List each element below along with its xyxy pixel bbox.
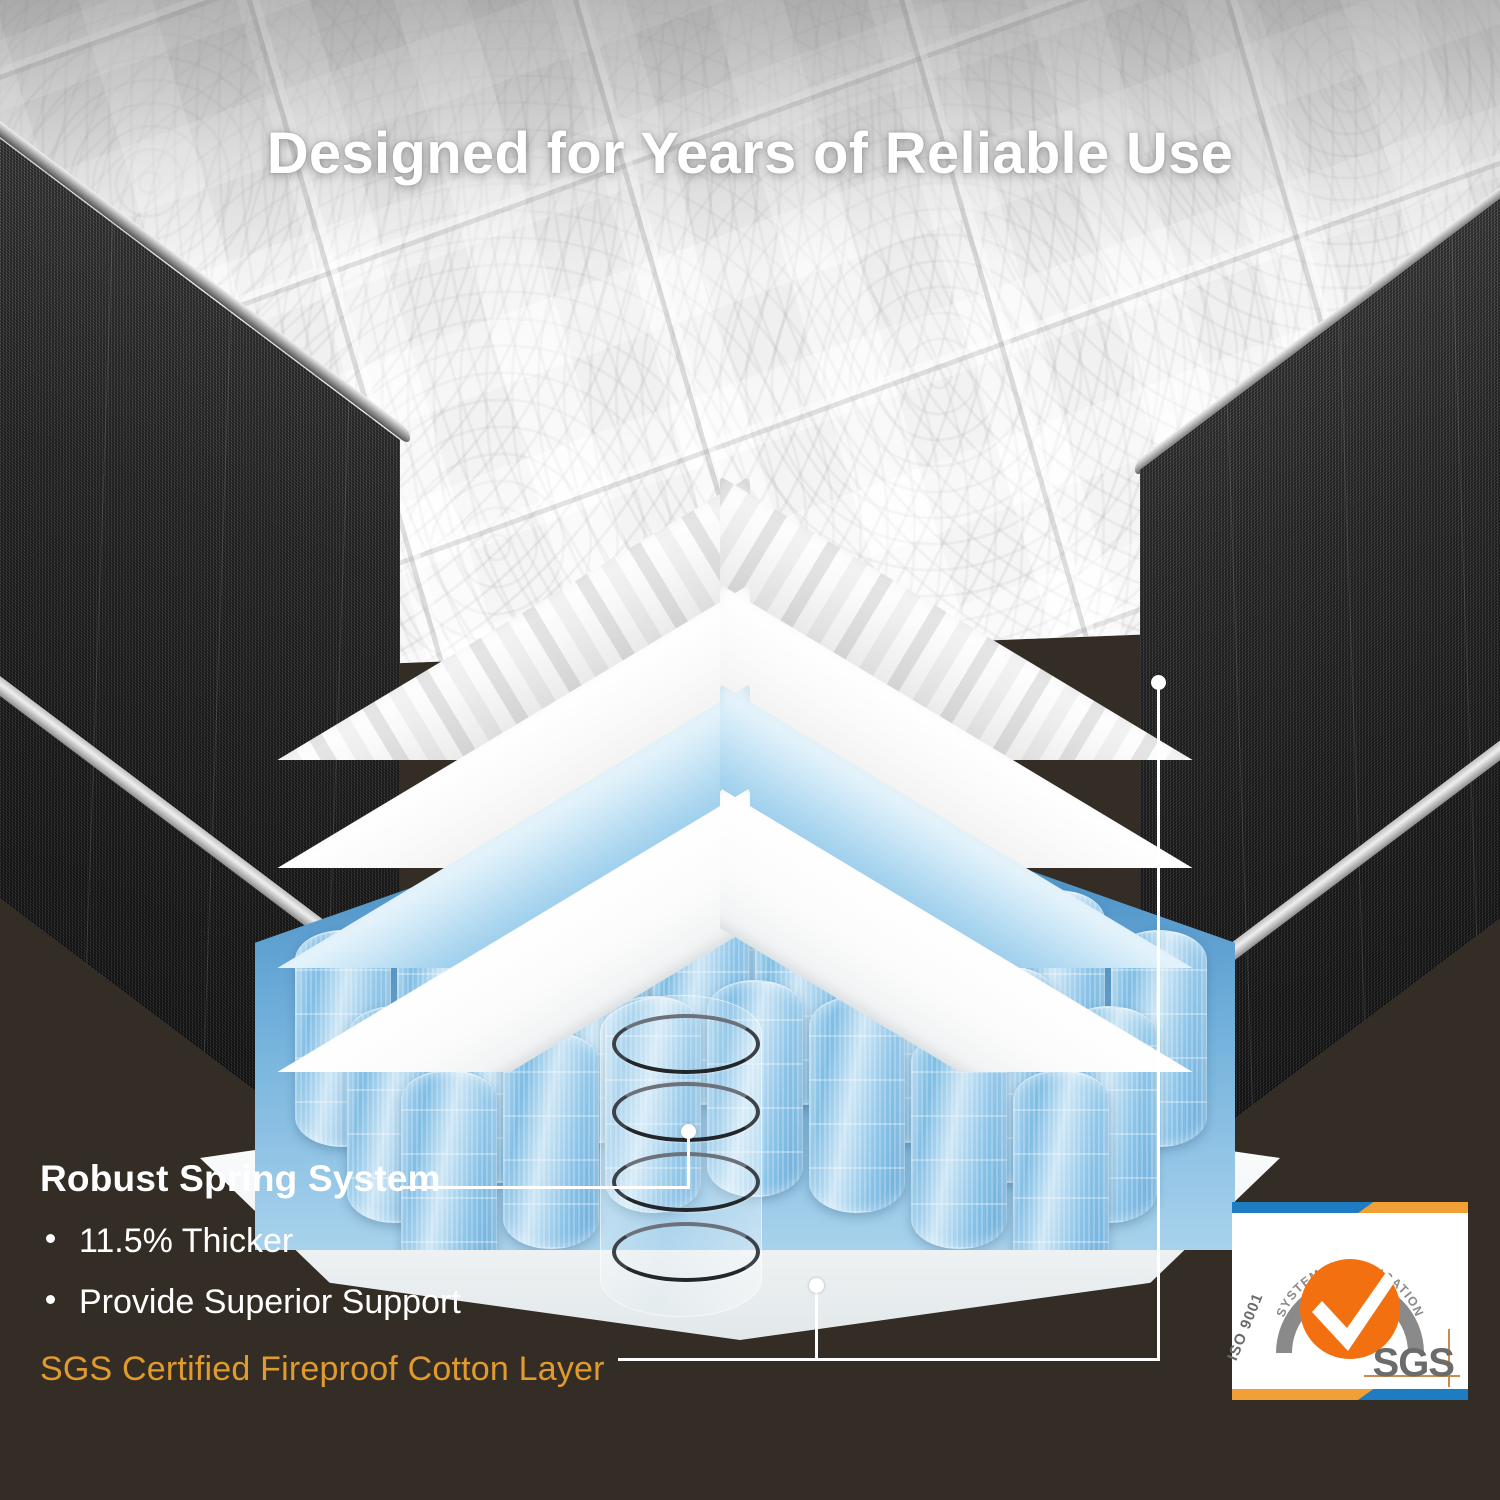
spring-system-title: Robust Spring System — [40, 1160, 760, 1197]
list-item: Provide Superior Support — [40, 1285, 760, 1319]
badge-content: SYSTEM CERTIFICATION ISO 9001 SGS — [1232, 1213, 1468, 1389]
bullet-dot-icon — [46, 1234, 55, 1243]
pocket-coil — [1013, 1070, 1109, 1250]
badge-top-bar — [1232, 1202, 1468, 1213]
badge-bar-orange — [1232, 1389, 1382, 1400]
sgs-certification-badge: SYSTEM CERTIFICATION ISO 9001 SGS — [1232, 1202, 1468, 1400]
cotton-layer-label: SGS Certified Fireproof Cotton Layer — [40, 1352, 760, 1386]
list-item: 11.5% Thicker — [40, 1224, 760, 1258]
badge-bar-blue — [1358, 1389, 1468, 1400]
badge-brand-label: SGS — [1373, 1343, 1454, 1383]
leader-line-cotton-riser — [815, 1290, 818, 1360]
leader-dot-cotton — [809, 1278, 824, 1293]
bullet-label: Provide Superior Support — [79, 1285, 461, 1319]
product-infographic: Designed for Years of Reliable Use Robus… — [0, 0, 1500, 1500]
bullet-dot-icon — [46, 1295, 55, 1304]
page-title: Designed for Years of Reliable Use — [0, 120, 1500, 187]
badge-bar-blue — [1232, 1202, 1382, 1213]
fireproof-cotton-layer — [230, 772, 1240, 1072]
leader-line-foam-vertical — [1157, 682, 1160, 1360]
badge-bar-orange — [1358, 1202, 1468, 1213]
badge-bottom-bar — [1232, 1389, 1468, 1400]
callout-text-block: Robust Spring System 11.5% Thicker Provi… — [40, 1160, 760, 1386]
bullet-label: 11.5% Thicker — [79, 1224, 293, 1258]
layer-cutaway-stack — [230, 420, 1240, 980]
leader-dot-spring — [681, 1124, 696, 1139]
